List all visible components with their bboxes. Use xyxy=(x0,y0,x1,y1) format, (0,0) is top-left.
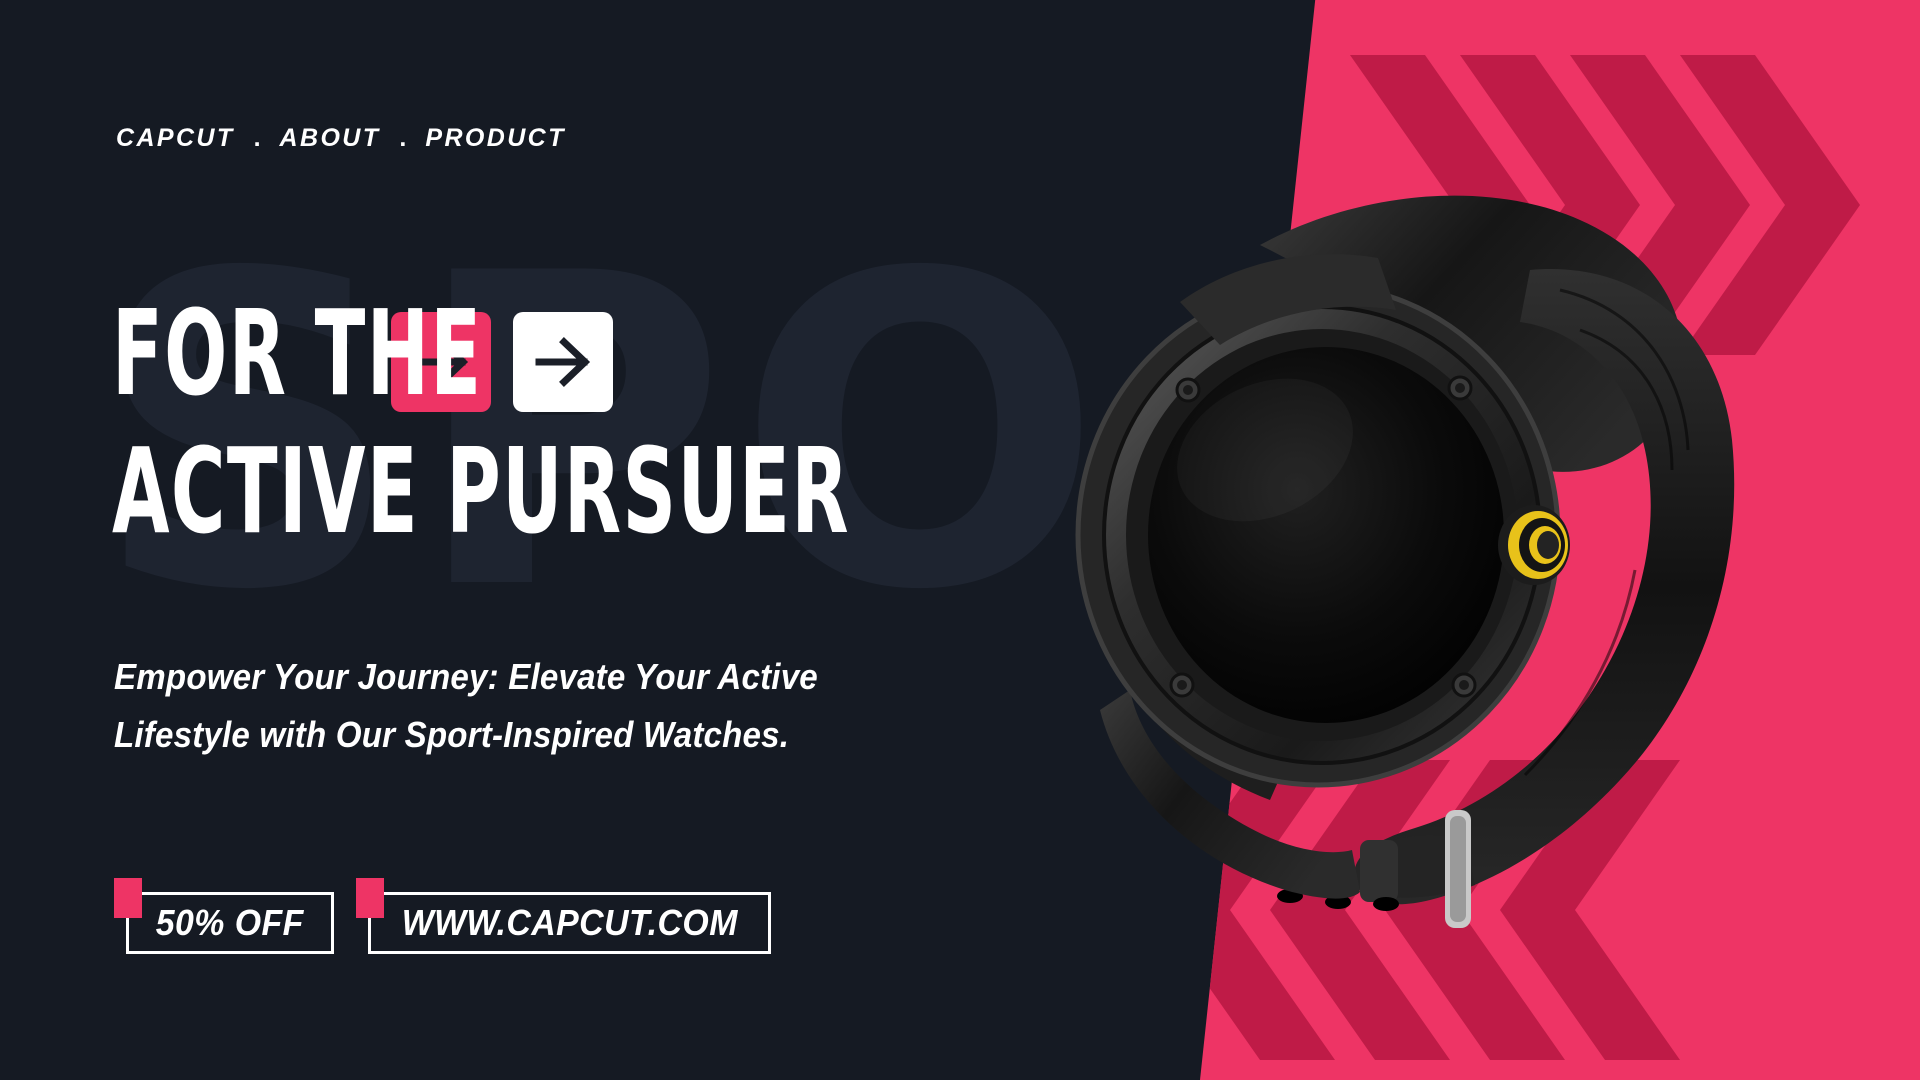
bottom-badge-group: 50% OFF WWW.CAPCUT.COM xyxy=(114,878,771,954)
website-badge-box[interactable]: WWW.CAPCUT.COM xyxy=(368,892,772,954)
nav-item-about[interactable]: ABOUT xyxy=(280,124,381,153)
top-navigation: CAPCUT . ABOUT . PRODUCT xyxy=(116,124,566,153)
badge-corner-accent xyxy=(356,878,384,918)
nav-item-capcut[interactable]: CAPCUT xyxy=(116,124,235,153)
nav-separator-2: . xyxy=(380,124,425,153)
arrow-right-icon xyxy=(534,333,592,391)
badge-corner-accent xyxy=(114,878,142,918)
discount-badge-box[interactable]: 50% OFF xyxy=(126,892,334,954)
website-badge-label: WWW.CAPCUT.COM xyxy=(401,902,737,944)
headline-line-2: ACTIVE PURSUER xyxy=(112,434,850,550)
product-image-smartwatch xyxy=(1060,150,1820,980)
headline-row-1: FOR THE xyxy=(112,296,1166,412)
discount-badge-label: 50% OFF xyxy=(156,902,304,944)
subtitle-line-1: Empower Your Journey: Elevate Your Activ… xyxy=(114,648,818,706)
discount-badge[interactable]: 50% OFF xyxy=(114,878,334,954)
watch-crown xyxy=(1498,505,1570,585)
website-badge[interactable]: WWW.CAPCUT.COM xyxy=(356,878,772,954)
headline-line-1: FOR THE xyxy=(112,296,482,412)
nav-item-product[interactable]: PRODUCT xyxy=(425,124,565,153)
next-button-secondary[interactable] xyxy=(513,312,613,412)
headline-block: FOR THE xyxy=(112,296,1166,550)
subtitle-line-2: Lifestyle with Our Sport-Inspired Watche… xyxy=(114,706,818,764)
nav-separator-1: . xyxy=(235,124,280,153)
promo-banner: SPO xyxy=(0,0,1920,1080)
subtitle-block: Empower Your Journey: Elevate Your Activ… xyxy=(114,648,818,765)
